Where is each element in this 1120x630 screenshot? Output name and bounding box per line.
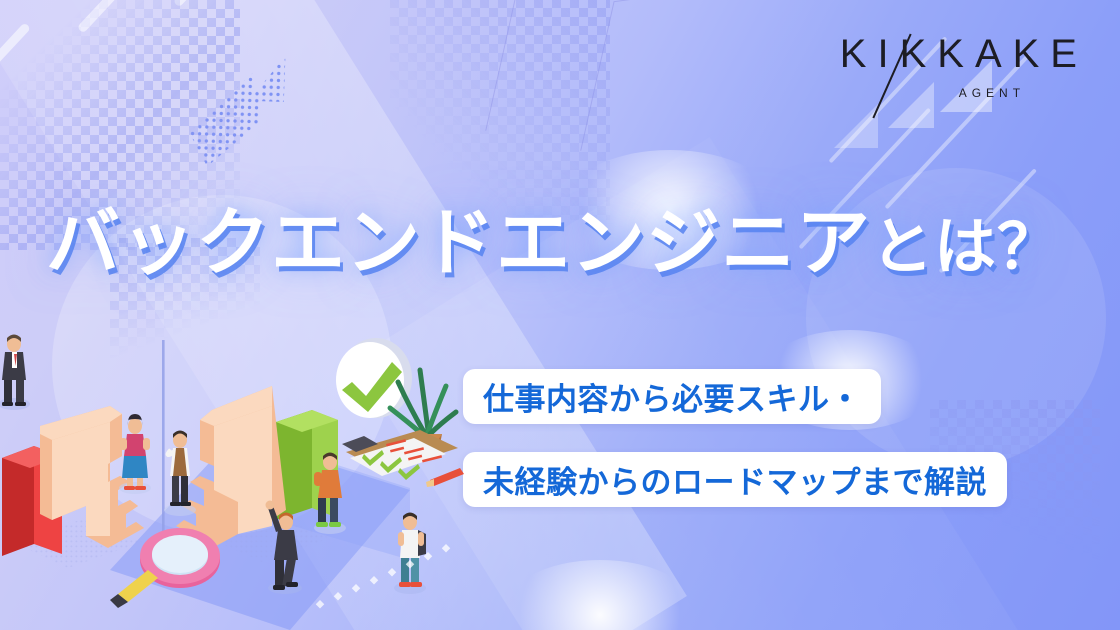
logo-wordmark: KIKKAKE [829, 34, 1088, 74]
logo-tagline: AGENT [829, 86, 1120, 100]
subtitle-pill-2: 未経験からのロードマップまで解説 [463, 452, 1007, 507]
brand-logo[interactable]: KIKKAKE AGENT [829, 34, 1088, 100]
pencil-icon [426, 468, 464, 487]
subtitle-pill-1: 仕事内容から必要スキル・ [463, 369, 881, 424]
subtitle-text-2: 未経験からのロードマップまで解説 [483, 457, 987, 502]
title-main: バックエンドエンジニア [46, 201, 871, 284]
subtitle-text-1: 仕事内容から必要スキル・ [483, 374, 861, 419]
banner-root: KIKKAKE AGENT バックエンドエンジニアとは？ 仕事内容から必要スキル… [0, 0, 1120, 630]
page-title: バックエンドエンジニアとは？ [46, 206, 1060, 280]
title-tail: とは？ [871, 213, 1060, 282]
triangle-shape [834, 104, 878, 148]
person-business-standing [0, 335, 30, 411]
check-badge-icon [336, 338, 412, 418]
isometric-illustration [0, 330, 470, 630]
